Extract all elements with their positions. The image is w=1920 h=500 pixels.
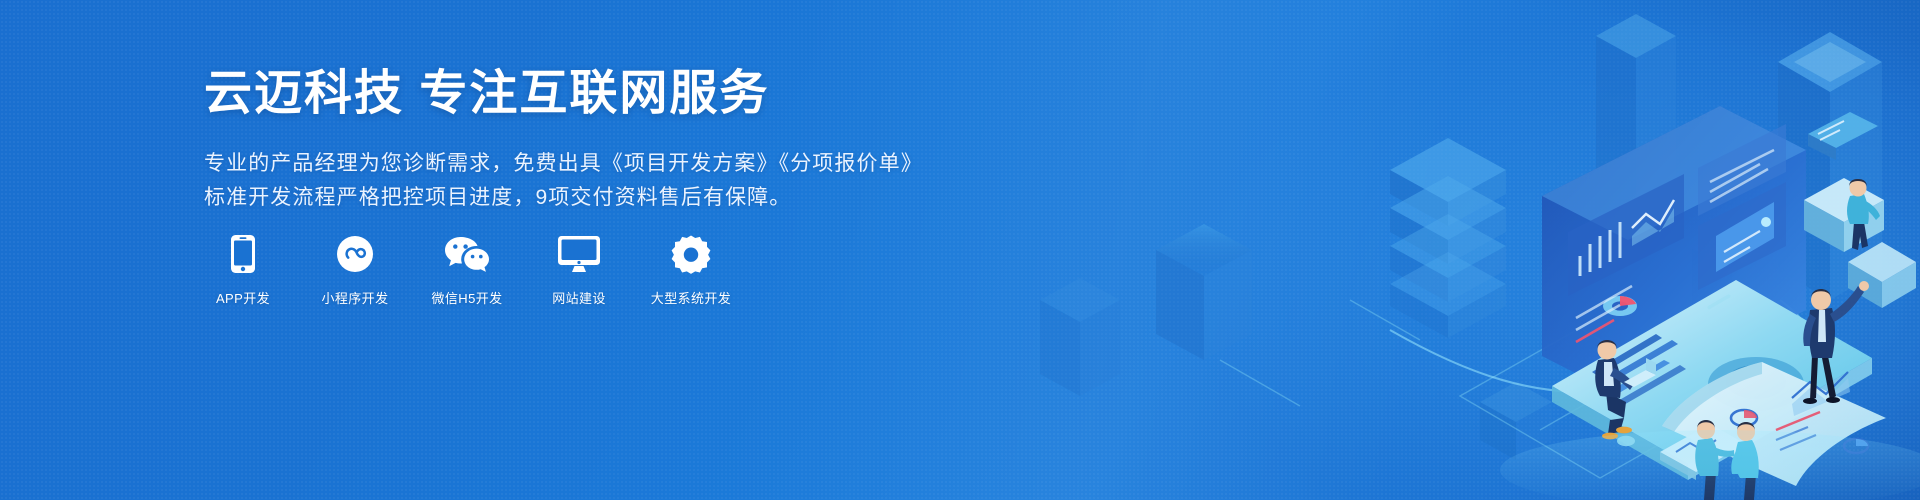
service-label: 微信H5开发 (431, 288, 502, 307)
floating-mini-card (1660, 424, 1746, 480)
banner-subtitle: 专业的产品经理为您诊断需求，免费出具《项目开发方案》《分项报价单》 标准开发流程… (204, 147, 944, 215)
data-sheet-curve (1662, 362, 1886, 486)
pedestal-right-lower (1848, 242, 1916, 308)
monitor-icon (557, 232, 601, 276)
subtitle-line-2: 标准开发流程严格把控项目进度，9项交付资料售后有保障。 (204, 181, 944, 215)
service-label: 网站建设 (552, 288, 606, 307)
service-item-wechat-h5[interactable]: 微信H5开发 (428, 232, 506, 307)
ground-grid (1220, 300, 1720, 478)
service-item-app[interactable]: APP开发 (204, 232, 282, 307)
screen-text-rows (1576, 150, 1774, 330)
person-sitting-laptop (1595, 340, 1656, 439)
tablet-content-bars (1592, 334, 1686, 406)
service-list: APP开发 小程序开发 (204, 232, 730, 307)
background-buildings (1040, 14, 1882, 460)
person-on-pedestal (1847, 179, 1880, 250)
gear-icon (671, 232, 711, 276)
screen-donut-chart (1603, 296, 1637, 316)
pedestal-right (1804, 178, 1884, 252)
service-item-mini-program[interactable]: 小程序开发 (316, 232, 394, 307)
floating-window (1808, 112, 1878, 160)
banner-text-block: 云迈科技 专注互联网服务 专业的产品经理为您诊断需求，免费出具《项目开发方案》《… (204, 66, 944, 215)
screen-line-chart (1632, 200, 1674, 228)
screen-bar-chart (1580, 222, 1620, 276)
service-label: 大型系统开发 (651, 288, 731, 307)
service-item-large-system[interactable]: 大型系统开发 (652, 232, 730, 307)
mini-program-icon (336, 232, 374, 276)
service-label: 小程序开发 (321, 288, 388, 307)
sheet-charts (1731, 372, 1868, 453)
mobile-phone-icon (230, 232, 256, 276)
dashboard-screen (1542, 106, 1806, 400)
tablet-device (1552, 280, 1872, 480)
subtitle-line-1: 专业的产品经理为您诊断需求，免费出具《项目开发方案》《分项报价单》 (204, 147, 944, 181)
person-standing (1803, 281, 1869, 404)
person-group-bottom (1695, 420, 1759, 500)
service-item-website[interactable]: 网站建设 (540, 232, 618, 307)
isometric-tech-illustration (920, 0, 1920, 500)
glow-paths (1390, 300, 1818, 392)
page-title: 云迈科技 专注互联网服务 (204, 66, 944, 123)
hero-banner: 云迈科技 专注互联网服务 专业的产品经理为您诊断需求，免费出具《项目开发方案》《… (0, 0, 1920, 500)
service-label: APP开发 (216, 288, 270, 307)
server-stack (1390, 138, 1506, 338)
wechat-icon (443, 232, 491, 276)
